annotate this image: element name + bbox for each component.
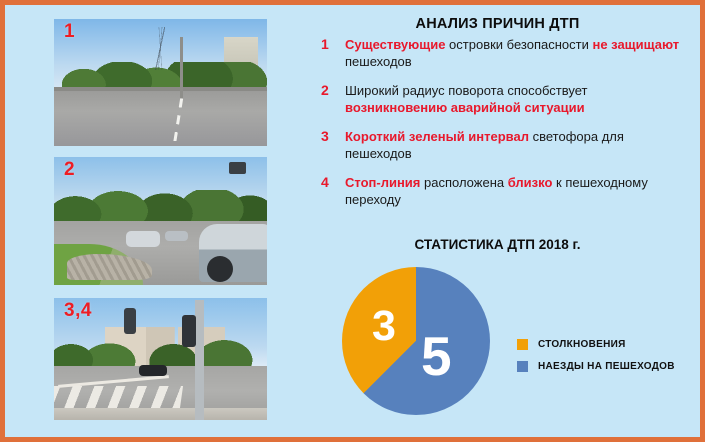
reason-number: 2	[321, 82, 329, 99]
pie-chart: 3 5	[342, 267, 490, 415]
photo-signal-crosswalk-3: 3,4	[54, 298, 267, 420]
legend-item: СТОЛКНОВЕНИЯ	[517, 339, 675, 350]
page-title: АНАЛИЗ ПРИЧИН ДТП	[305, 16, 690, 32]
statistics-title: СТАТИСТИКА ДТП 2018 г.	[305, 237, 690, 252]
traffic-light	[229, 162, 246, 174]
car-distant	[126, 231, 160, 246]
reason-text-emphasis: Стоп-линия	[345, 175, 420, 190]
photo-badge: 2	[64, 160, 75, 179]
reason-text-emphasis: Существующие	[345, 37, 445, 52]
reason-number: 3	[321, 128, 329, 145]
reasons-list: 1Существующие островки безопасности не з…	[315, 36, 692, 208]
reason-text-emphasis: близко	[508, 175, 553, 190]
sidewalk	[54, 408, 267, 420]
reason-text-plain: Широкий радиус поворота способствует	[345, 83, 587, 98]
traffic-light-head	[182, 315, 196, 347]
reason-text: Широкий радиус поворота способствует воз…	[345, 83, 587, 115]
legend-item: НАЕЗДЫ НА ПЕШЕХОДОВ	[517, 361, 675, 372]
legend-label: СТОЛКНОВЕНИЯ	[538, 339, 626, 350]
photo-badge: 1	[64, 22, 75, 41]
roadway	[54, 90, 267, 146]
reason-number: 1	[321, 36, 329, 53]
photo-intersection-1: 1	[54, 19, 267, 146]
car	[139, 365, 167, 376]
reason-item-1: 1Существующие островки безопасности не з…	[315, 36, 692, 70]
reason-item-2: 2Широкий радиус поворота способствует во…	[315, 82, 692, 116]
legend-swatch-icon	[517, 339, 528, 350]
pie-disc	[342, 267, 490, 415]
photo-2-scene	[54, 157, 267, 285]
reason-text: Короткий зеленый интервал светофора для …	[345, 129, 624, 161]
reason-text: Стоп-линия расположена близко к пешеходн…	[345, 175, 648, 207]
reason-item-3: 3Короткий зеленый интервал светофора для…	[315, 128, 692, 162]
chart-legend: СТОЛКНОВЕНИЯНАЕЗДЫ НА ПЕШЕХОДОВ	[517, 339, 675, 372]
car-distant-2	[165, 231, 188, 241]
photo-badge: 3,4	[64, 301, 92, 320]
pie-slice-value-pedestrians: 5	[421, 329, 452, 384]
photo-1-scene	[54, 19, 267, 146]
legend-label: НАЕЗДЫ НА ПЕШЕХОДОВ	[538, 361, 675, 372]
traffic-light-head-2	[124, 308, 136, 334]
reason-text-emphasis: возникновению аварийной ситуации	[345, 100, 585, 115]
overhead-wires	[54, 27, 267, 70]
pie-slice-value-collisions: 3	[372, 305, 396, 348]
curb-line	[54, 87, 267, 91]
legend-swatch-icon	[517, 361, 528, 372]
infographic-poster: 1 2 3,4	[0, 0, 705, 442]
reason-text-emphasis: Короткий зеленый интервал	[345, 129, 529, 144]
photo-turning-radius-2: 2	[54, 157, 267, 285]
reason-text-plain: островки безопасности	[445, 37, 592, 52]
reason-text-emphasis: не защищают	[592, 37, 679, 52]
reason-text-plain: пешеходов	[345, 54, 412, 69]
reason-text-plain: расположена	[420, 175, 507, 190]
signal-mast	[195, 300, 204, 420]
reason-item-4: 4Стоп-линия расположена близко к пешеход…	[315, 174, 692, 208]
reason-text: Существующие островки безопасности не за…	[345, 37, 679, 69]
reason-number: 4	[321, 174, 329, 191]
